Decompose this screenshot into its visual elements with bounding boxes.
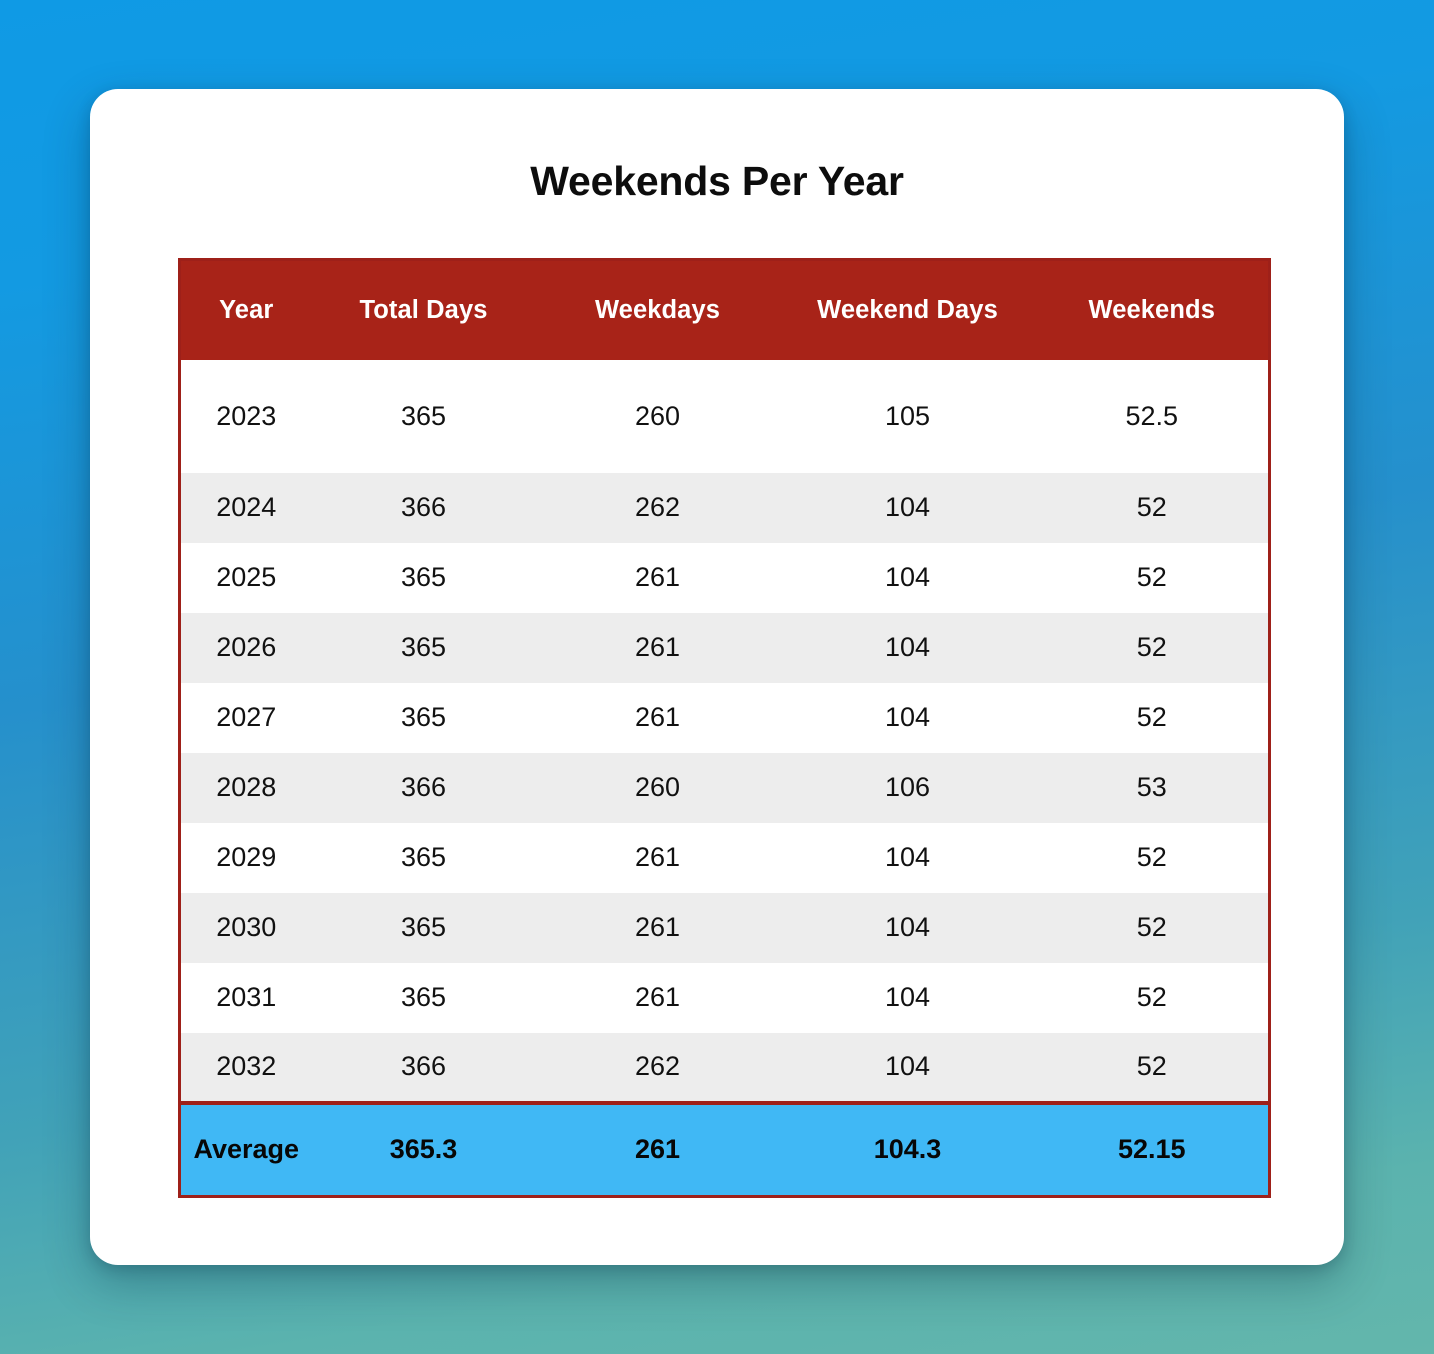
cell-year: 2030: [180, 893, 312, 963]
cell-weekend-days: 106: [780, 753, 1036, 823]
cell-year: 2023: [180, 360, 312, 473]
cell-total-days: 365: [312, 543, 536, 613]
table-row: 2027 365 261 104 52: [180, 683, 1270, 753]
weekends-per-year-table: Year Total Days Weekdays Weekend Days We…: [178, 258, 1271, 1198]
cell-weekdays: 262: [536, 1033, 780, 1103]
cell-total-days: 365: [312, 823, 536, 893]
table-row: 2026 365 261 104 52: [180, 613, 1270, 683]
cell-weekdays: 261: [536, 823, 780, 893]
cell-weekends: 52: [1036, 613, 1270, 683]
cell-weekdays: 261: [536, 893, 780, 963]
table-row: 2031 365 261 104 52: [180, 963, 1270, 1033]
cell-weekend-days: 105: [780, 360, 1036, 473]
table-body: 2023 365 260 105 52.5 2024 366 262 104 5…: [180, 360, 1270, 1197]
cell-weekdays: 260: [536, 753, 780, 823]
cell-year: 2027: [180, 683, 312, 753]
cell-weekdays: 261: [536, 683, 780, 753]
cell-weekdays: 261: [536, 963, 780, 1033]
table-row: 2029 365 261 104 52: [180, 823, 1270, 893]
column-header-year[interactable]: Year: [180, 260, 312, 360]
cell-total-days: 365: [312, 683, 536, 753]
cell-total-days: 365: [312, 963, 536, 1033]
cell-weekend-days: 104: [780, 683, 1036, 753]
cell-total-days: 365: [312, 360, 536, 473]
cell-weekend-days: 104: [780, 823, 1036, 893]
cell-weekdays: 261: [536, 543, 780, 613]
page-title: Weekends Per Year: [90, 89, 1344, 202]
table-row: 2024 366 262 104 52: [180, 473, 1270, 543]
cell-weekdays: 261: [536, 613, 780, 683]
cell-weekends: 53: [1036, 753, 1270, 823]
table-row: 2025 365 261 104 52: [180, 543, 1270, 613]
cell-weekends: 52: [1036, 683, 1270, 753]
cell-summary-total-days: 365.3: [312, 1103, 536, 1197]
cell-weekend-days: 104: [780, 893, 1036, 963]
cell-summary-weekdays: 261: [536, 1103, 780, 1197]
cell-weekend-days: 104: [780, 1033, 1036, 1103]
cell-weekend-days: 104: [780, 613, 1036, 683]
cell-weekends: 52: [1036, 473, 1270, 543]
cell-summary-label: Average: [180, 1103, 312, 1197]
cell-year: 2025: [180, 543, 312, 613]
cell-year: 2031: [180, 963, 312, 1033]
table-header-row: Year Total Days Weekdays Weekend Days We…: [180, 260, 1270, 360]
cell-weekends: 52: [1036, 1033, 1270, 1103]
cell-total-days: 365: [312, 893, 536, 963]
cell-year: 2026: [180, 613, 312, 683]
cell-weekdays: 260: [536, 360, 780, 473]
cell-weekends: 52: [1036, 823, 1270, 893]
table-row: 2028 366 260 106 53: [180, 753, 1270, 823]
cell-weekend-days: 104: [780, 473, 1036, 543]
cell-year: 2032: [180, 1033, 312, 1103]
cell-weekends: 52.5: [1036, 360, 1270, 473]
cell-total-days: 365: [312, 613, 536, 683]
table-summary-row: Average 365.3 261 104.3 52.15: [180, 1103, 1270, 1197]
cell-weekend-days: 104: [780, 963, 1036, 1033]
column-header-total-days[interactable]: Total Days: [312, 260, 536, 360]
table-row: 2023 365 260 105 52.5: [180, 360, 1270, 473]
table-header: Year Total Days Weekdays Weekend Days We…: [180, 260, 1270, 360]
cell-weekends: 52: [1036, 893, 1270, 963]
cell-year: 2029: [180, 823, 312, 893]
cell-weekend-days: 104: [780, 543, 1036, 613]
cell-year: 2028: [180, 753, 312, 823]
content-card: Weekends Per Year Year Total Days Weekda…: [90, 89, 1344, 1265]
table-row: 2032 366 262 104 52: [180, 1033, 1270, 1103]
cell-year: 2024: [180, 473, 312, 543]
cell-summary-weekends: 52.15: [1036, 1103, 1270, 1197]
column-header-weekdays[interactable]: Weekdays: [536, 260, 780, 360]
cell-weekends: 52: [1036, 543, 1270, 613]
cell-total-days: 366: [312, 753, 536, 823]
table-row: 2030 365 261 104 52: [180, 893, 1270, 963]
cell-summary-weekend-days: 104.3: [780, 1103, 1036, 1197]
cell-total-days: 366: [312, 1033, 536, 1103]
cell-weekdays: 262: [536, 473, 780, 543]
cell-weekends: 52: [1036, 963, 1270, 1033]
table-container: Year Total Days Weekdays Weekend Days We…: [178, 258, 1256, 1198]
column-header-weekends[interactable]: Weekends: [1036, 260, 1270, 360]
cell-total-days: 366: [312, 473, 536, 543]
column-header-weekend-days[interactable]: Weekend Days: [780, 260, 1036, 360]
